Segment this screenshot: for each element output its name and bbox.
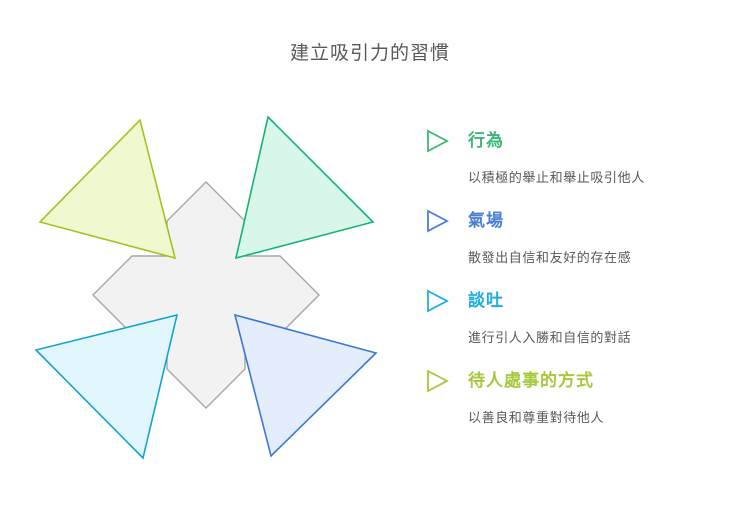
- legend-item-header: 待人處事的方式: [424, 364, 724, 398]
- triangle-right-icon: [424, 208, 450, 234]
- triangle-behavior: [236, 117, 373, 258]
- legend-item-manner[interactable]: 待人處事的方式 以善良和尊重對待他人: [424, 364, 724, 444]
- triangle-right-icon: [424, 288, 450, 314]
- legend-description: 以積極的舉止和舉止吸引他人: [468, 169, 724, 187]
- triangle-speech: [36, 315, 177, 458]
- triangle-manner: [40, 120, 175, 258]
- legend-description: 以善良和尊重對待他人: [468, 409, 724, 427]
- triangle-right-icon: [424, 128, 450, 154]
- triangle-aura: [235, 315, 376, 456]
- legend-item-header: 氣場: [424, 204, 724, 238]
- legend-item-behavior[interactable]: 行為 以積極的舉止和舉止吸引他人: [424, 124, 724, 204]
- legend-label: 氣場: [468, 209, 504, 233]
- legend-item-header: 談吐: [424, 284, 724, 318]
- legend-description: 進行引人入勝和自信的對話: [468, 329, 724, 347]
- triangle-right-icon: [424, 368, 450, 394]
- diagram-area: [0, 90, 410, 490]
- legend-description: 散發出自信和友好的存在感: [468, 249, 724, 267]
- legend: 行為 以積極的舉止和舉止吸引他人 氣場 散發出自信和友好的存在感 談吐 進行引人…: [424, 124, 724, 444]
- legend-label: 待人處事的方式: [468, 369, 594, 393]
- legend-item-aura[interactable]: 氣場 散發出自信和友好的存在感: [424, 204, 724, 284]
- legend-label: 行為: [468, 129, 504, 153]
- legend-item-speech[interactable]: 談吐 進行引人入勝和自信的對話: [424, 284, 724, 364]
- page-title: 建立吸引力的習慣: [0, 40, 740, 68]
- legend-item-header: 行為: [424, 124, 724, 158]
- legend-label: 談吐: [468, 289, 504, 313]
- diagram-svg: [0, 90, 410, 490]
